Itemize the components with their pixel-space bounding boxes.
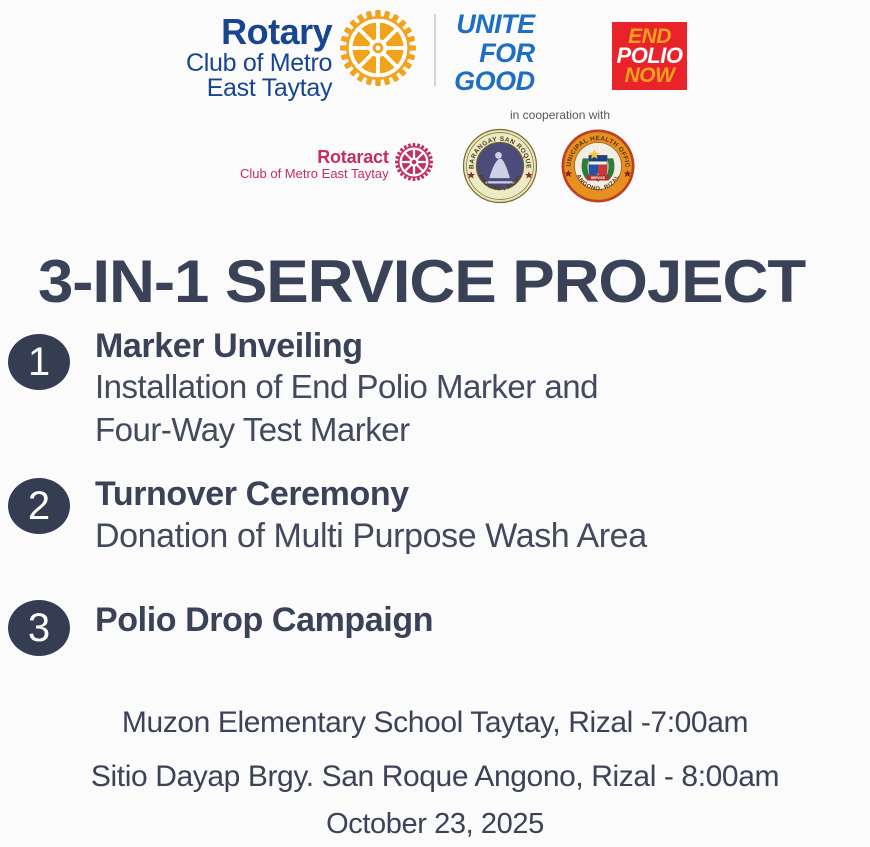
item-body: Turnover Ceremony Donation of Multi Purp… bbox=[0, 474, 870, 558]
rotaract-club-line: Club of Metro East Taytay bbox=[240, 167, 389, 181]
item-description-line-1: Donation of Multi Purpose Wash Area bbox=[95, 514, 870, 558]
end-polio-line-2: POLIO bbox=[617, 46, 683, 66]
header-logos: Rotary Club of Metro East Taytay bbox=[0, 0, 870, 215]
footer-date: October 23, 2025 bbox=[0, 808, 870, 841]
item-heading: Turnover Ceremony bbox=[95, 474, 870, 514]
service-items-list: 1 Marker Unveiling Installation of End P… bbox=[0, 326, 870, 660]
rotary-brand-name: Rotary bbox=[186, 14, 332, 51]
barangay-san-roque-seal-icon: BARANGAY SAN ROQUE ANGONO , RIZAL bbox=[462, 128, 538, 209]
item-description: Installation of End Polio Marker and Fou… bbox=[95, 366, 870, 452]
list-item: 3 Polio Drop Campaign bbox=[0, 600, 870, 660]
item-heading: Marker Unveiling bbox=[95, 326, 870, 366]
item-description-line-2: Four-Way Test Marker bbox=[95, 409, 870, 452]
item-body: Marker Unveiling Installation of End Pol… bbox=[0, 326, 870, 452]
item-number-badge: 3 bbox=[8, 600, 70, 656]
unite-for-good-tagline: UNITE FOR GOOD bbox=[454, 10, 535, 96]
municipal-health-office-seal-icon: SERVICE MUNICIPAL HEALTH OFFICE ANGONO, … bbox=[560, 128, 636, 209]
rotaract-brand-name: Rotaract bbox=[240, 148, 389, 167]
rotaract-wordmark: Rotaract Club of Metro East Taytay bbox=[240, 148, 389, 181]
header-divider bbox=[434, 14, 436, 86]
tagline-line-3: GOOD bbox=[454, 67, 535, 96]
rotary-wordmark: Rotary Club of Metro East Taytay bbox=[186, 6, 332, 102]
rotary-club-line-2: East Taytay bbox=[186, 76, 332, 102]
tagline-line-1: UNITE bbox=[454, 10, 535, 39]
page-title: 3-IN-1 SERVICE PROJECT bbox=[38, 247, 805, 316]
item-number-badge: 2 bbox=[8, 478, 70, 534]
footer-venue-line-1: Muzon Elementary School Taytay, Rizal -7… bbox=[0, 706, 870, 740]
end-polio-line-3: NOW bbox=[625, 66, 675, 85]
rotary-wheel-icon bbox=[340, 10, 416, 91]
rotary-club-lockup: Rotary Club of Metro East Taytay bbox=[186, 6, 535, 102]
item-heading: Polio Drop Campaign bbox=[95, 600, 870, 640]
tagline-line-2: FOR bbox=[454, 39, 535, 68]
rotaract-wheel-icon bbox=[395, 143, 433, 186]
list-item: 2 Turnover Ceremony Donation of Multi Pu… bbox=[0, 474, 870, 600]
footer-venue-line-2: Sitio Dayap Brgy. San Roque Angono, Riza… bbox=[0, 760, 870, 794]
svg-text:SERVICE: SERVICE bbox=[591, 176, 606, 180]
rotary-club-line-1: Club of Metro bbox=[186, 51, 332, 77]
item-body: Polio Drop Campaign bbox=[0, 600, 870, 640]
item-description-line-1: Installation of End Polio Marker and bbox=[95, 366, 870, 409]
cooperation-label: in cooperation with bbox=[510, 108, 610, 122]
end-polio-now-logo: END POLIO NOW bbox=[612, 22, 687, 90]
rotaract-club-lockup: Rotaract Club of Metro East Taytay bbox=[240, 143, 433, 186]
item-number-badge: 1 bbox=[8, 334, 70, 390]
event-details-footer: Muzon Elementary School Taytay, Rizal -7… bbox=[0, 706, 870, 841]
item-description: Donation of Multi Purpose Wash Area bbox=[95, 514, 870, 558]
list-item: 1 Marker Unveiling Installation of End P… bbox=[0, 326, 870, 474]
